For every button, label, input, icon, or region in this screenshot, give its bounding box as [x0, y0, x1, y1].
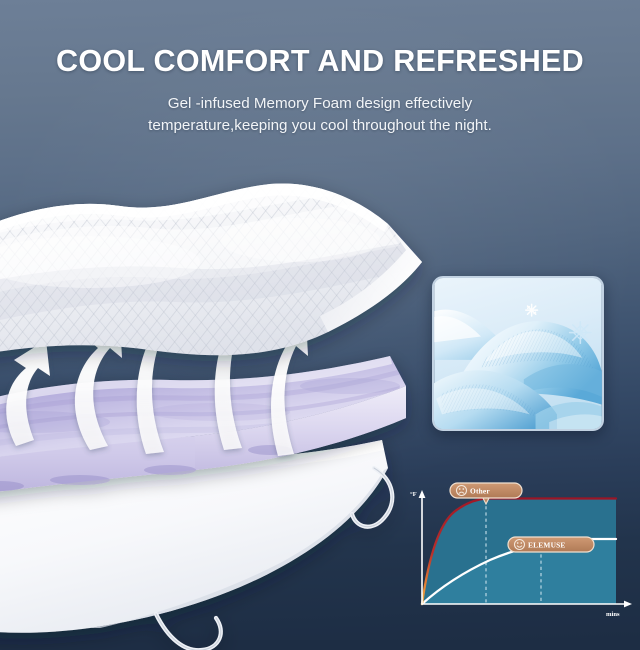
header: COOL COMFORT AND REFRESHED Gel -infused … — [0, 0, 640, 136]
page-title: COOL COMFORT AND REFRESHED — [0, 44, 640, 79]
layer-quilted-cover — [0, 170, 470, 400]
subtitle-line-2: temperature,keeping you cool throughout … — [0, 115, 640, 137]
subtitle-line-1: Gel -infused Memory Foam design effectiv… — [0, 93, 640, 115]
cooling-performance-chart: °F mins Other ELEMUSE — [398, 482, 640, 640]
chart-marker-other-label: Other — [470, 486, 490, 495]
snowflake-icon — [526, 304, 538, 316]
chart-ylabel: °F — [410, 491, 417, 498]
subtitle: Gel -infused Memory Foam design effectiv… — [0, 93, 640, 136]
chart-marker-elemuse-label: ELEMUSE — [528, 540, 566, 549]
chart-x-axis-arrow — [624, 601, 632, 608]
chart-marker-elemuse[interactable]: ELEMUSE — [508, 537, 594, 552]
ice-inset-panel — [432, 276, 604, 431]
chart-xlabel: mins — [606, 611, 620, 618]
snowflake-icon — [570, 322, 591, 343]
product-layers-illustration — [0, 150, 440, 650]
chart-y-axis-arrow — [419, 490, 426, 498]
